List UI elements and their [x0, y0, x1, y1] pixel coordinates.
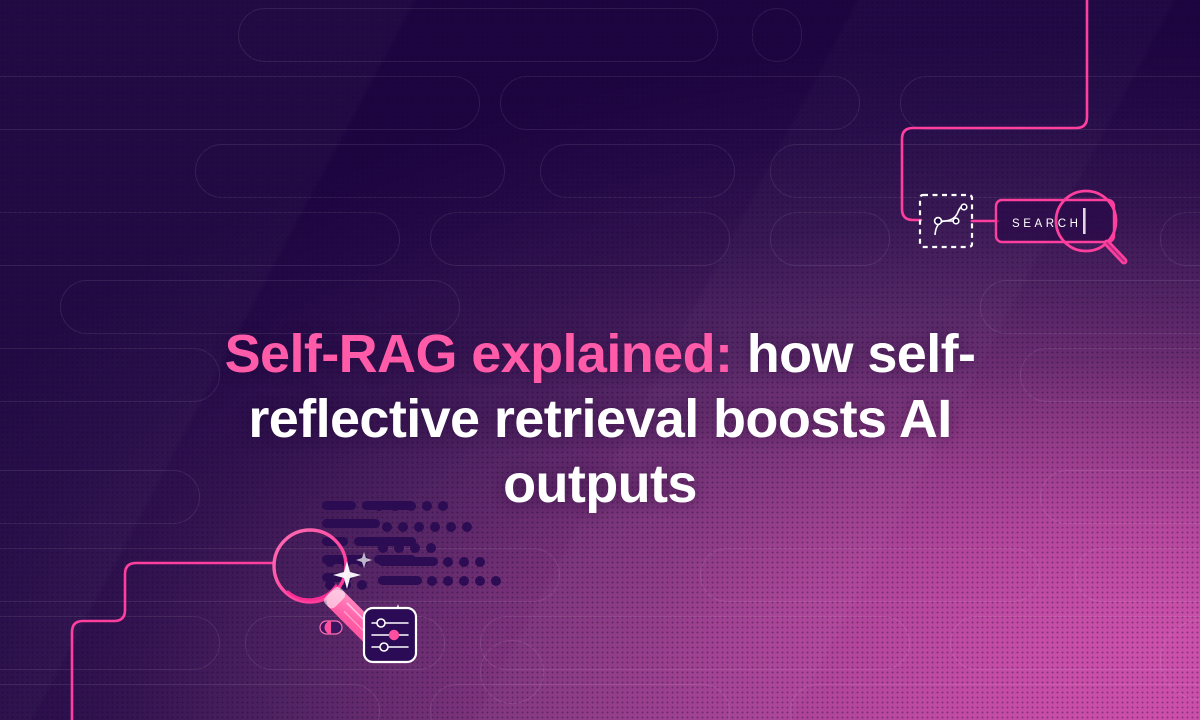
- page-title: Self-RAG explained: how self-reflective …: [150, 322, 1050, 516]
- sliders-card-icon[interactable]: [364, 608, 416, 662]
- page-title-highlight: Self-RAG explained:: [225, 324, 733, 384]
- connector-line-top: [902, 0, 1087, 220]
- connector-line-bottom: [72, 563, 274, 720]
- search-field-label: SEARCH: [1012, 218, 1082, 230]
- slider-knob-3[interactable]: [380, 643, 388, 651]
- search-text-cursor: [1083, 208, 1086, 234]
- chip-decoration: [320, 621, 342, 634]
- slider-knob-1[interactable]: [377, 619, 385, 627]
- hero-banner: SEARCH: [0, 0, 1200, 720]
- slider-knob-2[interactable]: [390, 631, 399, 640]
